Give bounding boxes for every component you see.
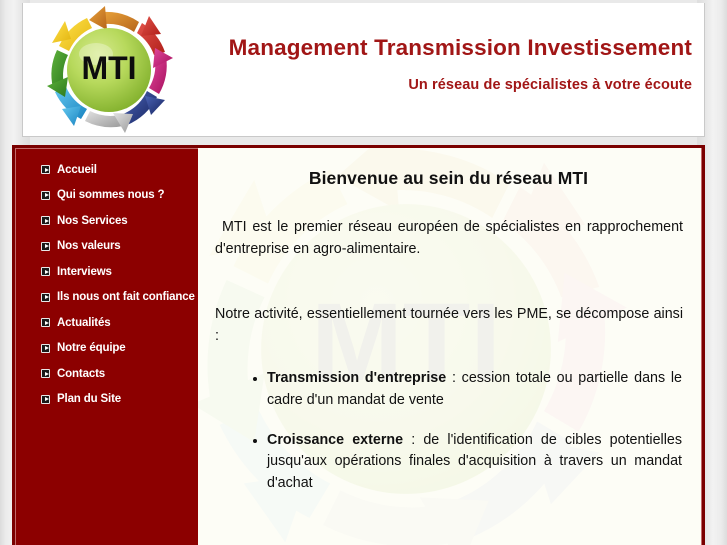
list-item: Transmission d'entreprise : cession tota…	[253, 368, 686, 412]
activity-list: Transmission d'entreprise : cession tota…	[211, 368, 686, 495]
logo-arrow-silver	[85, 111, 133, 133]
sidebar-item-label: Contacts	[57, 368, 105, 380]
sidebar-navigation: Accueil Qui sommes nous ? Nos Services N…	[12, 145, 198, 545]
logo-arrow-green	[47, 50, 68, 97]
sidebar-item-nos-valeurs[interactable]: Nos valeurs	[15, 234, 198, 260]
arrow-bullet-icon	[41, 395, 50, 404]
arrow-bullet-icon	[41, 191, 50, 200]
list-item-lead: Croissance externe	[267, 432, 403, 448]
arrow-bullet-icon	[41, 216, 50, 225]
logo-arrow-magenta	[149, 48, 173, 94]
sidebar-item-actualites[interactable]: Actualités	[15, 310, 198, 336]
sidebar-item-contacts[interactable]: Contacts	[15, 361, 198, 387]
sidebar-item-label: Plan du Site	[57, 393, 121, 405]
arrow-bullet-icon	[41, 267, 50, 276]
sidebar-item-nos-services[interactable]: Nos Services	[15, 208, 198, 234]
logo-text: MTI	[81, 50, 136, 86]
arrow-bullet-icon	[41, 242, 50, 251]
page-title: Bienvenue au sein du réseau MTI	[211, 168, 686, 189]
sidebar-item-ils-nous-ont-fait-confiance[interactable]: Ils nous ont fait confiance	[15, 285, 198, 311]
mti-logo[interactable]: MTI	[32, 6, 187, 134]
main-content: MTI Bienvenue au sein du réseau MTI MTI …	[198, 145, 705, 545]
arrow-bullet-icon	[41, 165, 50, 174]
sidebar-item-label: Qui sommes nous ?	[57, 189, 164, 201]
sidebar-item-qui-sommes-nous[interactable]: Qui sommes nous ?	[15, 183, 198, 209]
arrow-bullet-icon	[41, 293, 50, 302]
sidebar-item-accueil[interactable]: Accueil	[15, 157, 198, 183]
sidebar-item-label: Notre équipe	[57, 342, 126, 354]
tagline: Un réseau de spécialistes à votre écoute	[193, 77, 692, 93]
sidebar-item-label: Ils nous ont fait confiance	[57, 291, 195, 303]
sidebar-item-label: Nos Services	[57, 215, 127, 227]
list-item-lead: Transmission d'entreprise	[267, 370, 446, 386]
sidebar-item-label: Nos valeurs	[57, 240, 121, 252]
sidebar-item-label: Actualités	[57, 317, 110, 329]
arrow-bullet-icon	[41, 318, 50, 327]
site-header: MTI Management Transmission Investisseme…	[22, 3, 705, 137]
sidebar-item-interviews[interactable]: Interviews	[15, 259, 198, 285]
sidebar-item-plan-du-site[interactable]: Plan du Site	[15, 387, 198, 413]
sidebar-item-label: Accueil	[57, 164, 97, 176]
list-item: Croissance externe : de l'identification…	[253, 430, 686, 496]
arrow-bullet-icon	[41, 344, 50, 353]
logo-arrow-orange	[89, 6, 139, 32]
sidebar-item-label: Interviews	[57, 266, 112, 278]
header-title-block: Management Transmission Investissement U…	[193, 3, 696, 136]
sidebar-menu: Accueil Qui sommes nous ? Nos Services N…	[15, 148, 198, 412]
activity-paragraph: Notre activité, essentiellement tournée …	[211, 304, 686, 347]
company-name: Management Transmission Investissement	[193, 35, 692, 61]
arrow-bullet-icon	[41, 369, 50, 378]
intro-paragraph: MTI est le premier réseau européen de sp…	[211, 217, 686, 260]
sidebar-item-notre-equipe[interactable]: Notre équipe	[15, 336, 198, 362]
